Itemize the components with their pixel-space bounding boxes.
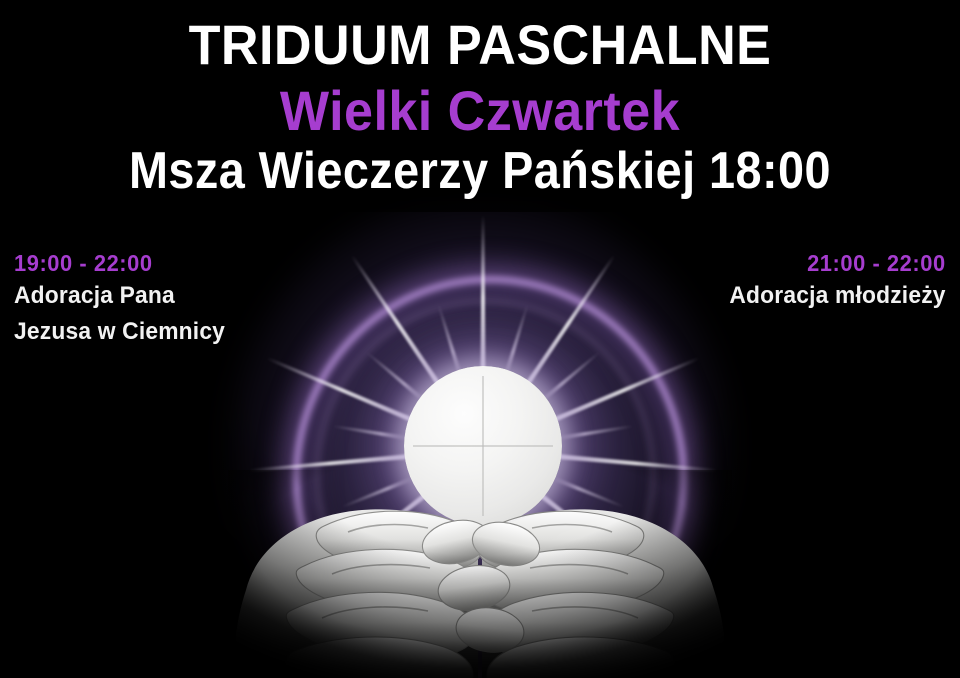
page-title: TRIDUUM PASCHALNE [34, 14, 927, 76]
event-left-time: 19:00 - 22:00 [14, 248, 225, 278]
poster: TRIDUUM PASCHALNE Wielki Czwartek Msza W… [0, 0, 960, 678]
event-right-desc-line1: Adoracja młodzieży [730, 278, 946, 314]
host-cross-horizontal [413, 445, 552, 447]
mass-time-heading: Msza Wieczerzy Pańskiej 18:00 [48, 141, 912, 201]
event-left-desc-line1: Adoracja Pana [14, 278, 225, 314]
event-block-left: 19:00 - 22:00 Adoracja Pana Jezusa w Cie… [14, 248, 236, 350]
cupped-hands-image [228, 470, 732, 678]
event-right-time: 21:00 - 22:00 [730, 248, 946, 278]
event-left-desc-line2: Jezusa w Ciemnicy [14, 314, 225, 350]
page-subtitle: Wielki Czwartek [34, 80, 927, 142]
event-block-right: 21:00 - 22:00 Adoracja młodzieży [718, 248, 946, 314]
